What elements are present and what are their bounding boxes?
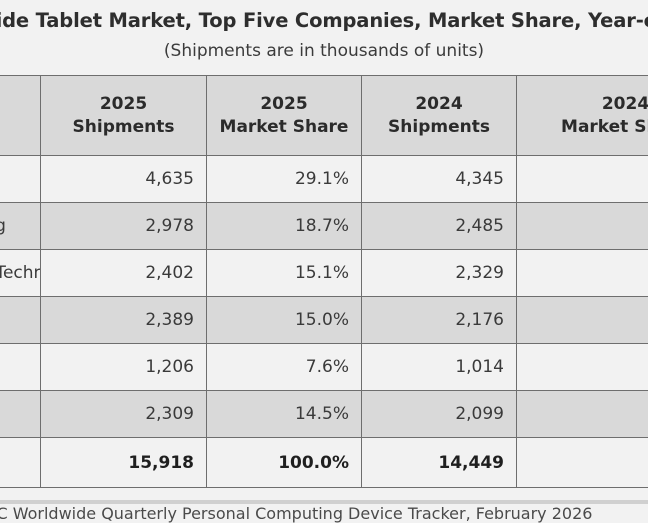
cell-shipments-2025: 2,309 <box>41 391 207 438</box>
table-body: Apple 4,635 29.1% 4,345 30.1% Samsung 2,… <box>0 156 648 488</box>
table-row: Xiaomi 1,206 7.6% 1,014 7.0% <box>0 344 648 391</box>
table-header: 2025 Shipments 2025 Market Share 2024 Sh… <box>0 76 648 156</box>
page-subtitle: (Shipments are in thousands of units) <box>0 41 648 61</box>
cell-shipments-2024: 4,345 <box>362 156 517 203</box>
column-header-shipments-2025-year: 2025 <box>53 93 194 116</box>
column-header-share-2025: 2025 Market Share <box>207 76 362 156</box>
column-header-share-2024: 2024 Market Share <box>517 76 648 156</box>
cell-shipments-2024: 2,099 <box>362 391 517 438</box>
cell-shipments-2025: 1,206 <box>41 344 207 391</box>
cell-company: Others <box>0 391 41 438</box>
cell-shipments-2025: 2,978 <box>41 203 207 250</box>
cell-share-2024: 14.5% <box>517 391 648 438</box>
cell-share-2025: 14.5% <box>207 391 362 438</box>
cell-share-2024: 15.1% <box>517 297 648 344</box>
cell-total-shipments-2025: 15,918 <box>41 438 207 488</box>
cell-company: Huawei Technologies <box>0 250 41 297</box>
cell-shipments-2024: 2,329 <box>362 250 517 297</box>
cell-total-share-2024: 100.0% <box>517 438 648 488</box>
cell-shipments-2024: 2,485 <box>362 203 517 250</box>
cell-shipments-2025: 2,402 <box>41 250 207 297</box>
cell-share-2025: 15.0% <box>207 297 362 344</box>
cell-shipments-2025: 4,635 <box>41 156 207 203</box>
column-header-shipments-2024-year: 2024 <box>374 93 504 116</box>
cell-company: Samsung <box>0 203 41 250</box>
column-header-shipments-2025-label: Shipments <box>53 116 194 139</box>
cell-shipments-2025: 2,389 <box>41 297 207 344</box>
cell-total-share-2025: 100.0% <box>207 438 362 488</box>
table-row: Others 2,309 14.5% 2,099 14.5% <box>0 391 648 438</box>
table-row: Apple 4,635 29.1% 4,345 30.1% <box>0 156 648 203</box>
column-header-share-2025-year: 2025 <box>219 93 349 116</box>
source-note: Source: IDC Worldwide Quarterly Personal… <box>0 504 648 523</box>
cell-company: Xiaomi <box>0 344 41 391</box>
cell-total-label: Total <box>0 438 41 488</box>
column-header-share-2024-label: Market Share <box>529 116 648 139</box>
cell-share-2024: 16.1% <box>517 250 648 297</box>
table-row: Huawei Technologies 2,402 15.1% 2,329 16… <box>0 250 648 297</box>
cell-shipments-2024: 1,014 <box>362 344 517 391</box>
cell-shipments-2024: 2,176 <box>362 297 517 344</box>
cell-share-2025: 18.7% <box>207 203 362 250</box>
cell-share-2025: 15.1% <box>207 250 362 297</box>
table-total-row: Total 15,918 100.0% 14,449 100.0% <box>0 438 648 488</box>
cell-share-2024: 7.0% <box>517 344 648 391</box>
cell-share-2024: 30.1% <box>517 156 648 203</box>
cell-company: Apple <box>0 156 41 203</box>
cell-share-2025: 29.1% <box>207 156 362 203</box>
table-row: Samsung 2,978 18.7% 2,485 17.2% <box>0 203 648 250</box>
table-row: Lenovo 2,389 15.0% 2,176 15.1% <box>0 297 648 344</box>
cell-share-2025: 7.6% <box>207 344 362 391</box>
column-header-share-2025-label: Market Share <box>219 116 349 139</box>
column-header-shipments-2024: 2024 Shipments <box>362 76 517 156</box>
column-header-company <box>0 76 41 156</box>
document-page: Worldwide Tablet Market, Top Five Compan… <box>0 0 648 500</box>
cell-total-shipments-2024: 14,449 <box>362 438 517 488</box>
page-title: Worldwide Tablet Market, Top Five Compan… <box>0 9 648 32</box>
table-header-row: 2025 Shipments 2025 Market Share 2024 Sh… <box>0 76 648 156</box>
title-block: Worldwide Tablet Market, Top Five Compan… <box>0 0 648 61</box>
column-header-shipments-2024-label: Shipments <box>374 116 504 139</box>
column-header-shipments-2025: 2025 Shipments <box>41 76 207 156</box>
column-header-share-2024-year: 2024 <box>529 93 648 116</box>
cell-company: Lenovo <box>0 297 41 344</box>
cell-share-2024: 17.2% <box>517 203 648 250</box>
market-share-table: 2025 Shipments 2025 Market Share 2024 Sh… <box>0 75 648 488</box>
